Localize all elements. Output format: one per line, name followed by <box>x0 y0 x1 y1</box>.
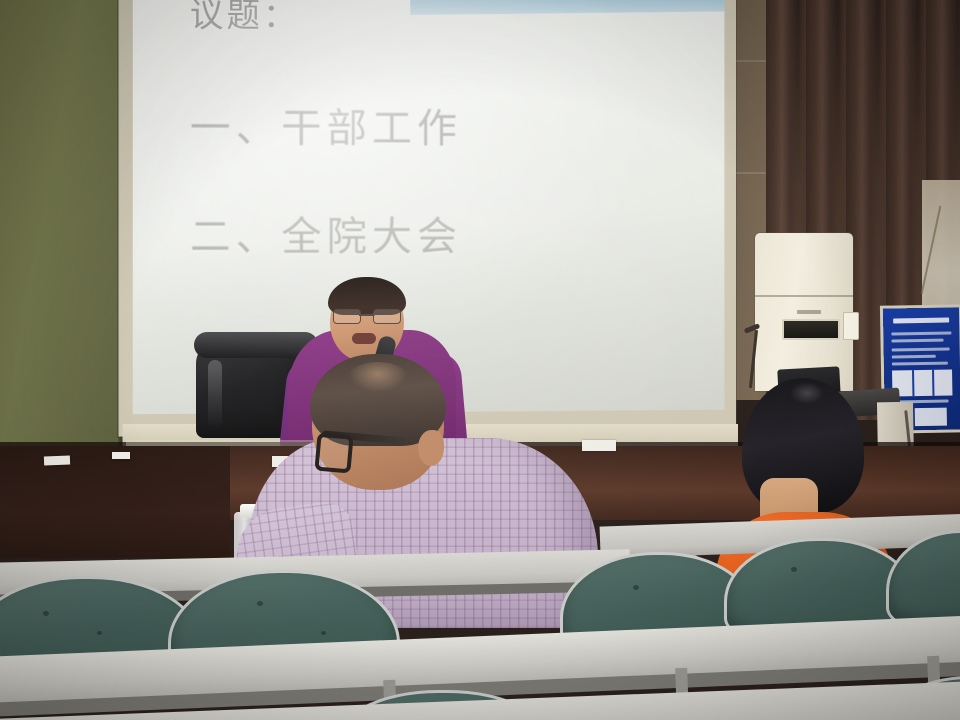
air-conditioner-vent <box>782 319 840 340</box>
poster-table <box>892 369 952 396</box>
attendee-front-scalp <box>348 362 408 392</box>
air-conditioner-logo <box>797 310 821 314</box>
slide-heading: 议题： <box>190 0 670 35</box>
air-conditioner-control-panel[interactable] <box>843 312 859 340</box>
desk-nameplate <box>582 440 616 451</box>
poster-text-line <box>892 355 936 358</box>
slide-content: 议题： 一、干部工作 二、全院大会 <box>190 0 670 257</box>
poster-text-line <box>891 339 943 342</box>
poster-text-line <box>892 362 948 365</box>
air-conditioner-seam <box>755 295 853 297</box>
conference-room-photo: 议题： 一、干部工作 二、全院大会 <box>0 0 960 720</box>
chair-highlight <box>208 360 222 428</box>
poster-text-line <box>892 348 950 352</box>
attendee-front-glasses-lens <box>314 433 353 474</box>
poster-table-secondary <box>915 408 947 427</box>
stage-wainscot-panel-left <box>0 446 230 558</box>
left-wall <box>0 0 126 452</box>
slide-item-1: 一、干部工作 <box>190 108 670 150</box>
attendee-right-hair-part <box>790 382 824 404</box>
stray-paper <box>44 456 70 466</box>
slide-item-2: 二、全院大会 <box>190 217 670 257</box>
stray-paper <box>112 452 130 459</box>
speaker-glasses <box>333 309 401 322</box>
poster-text-line <box>891 331 951 335</box>
poster-title-bar <box>893 318 949 324</box>
speaker-mouth <box>352 333 376 344</box>
attendee-front-ear <box>418 430 444 466</box>
